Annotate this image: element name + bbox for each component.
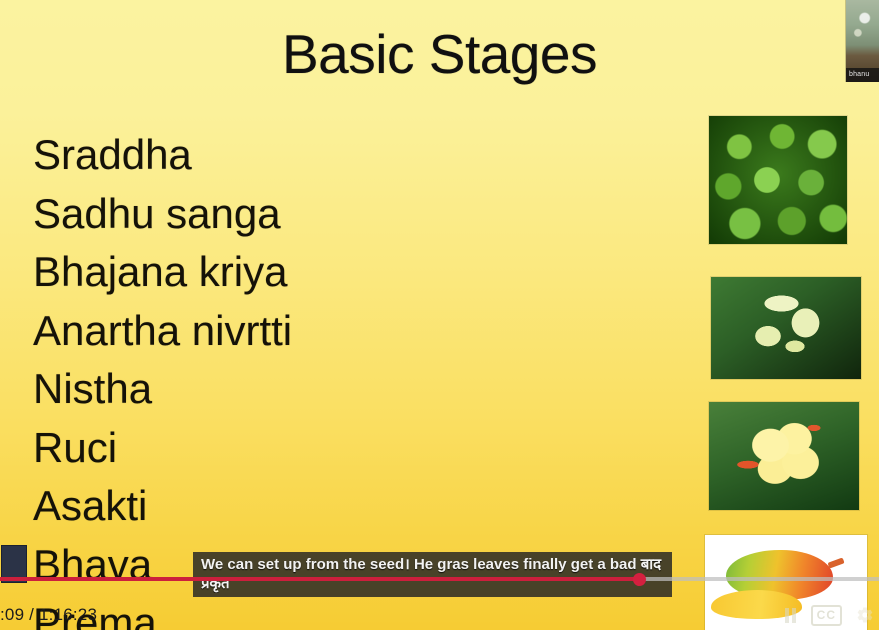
progress-played (0, 577, 641, 581)
video-player[interactable]: Basic Stages Sraddha Sadhu sanga Bhajana… (0, 0, 879, 630)
progress-scrubber-handle[interactable] (633, 573, 646, 586)
cc-button[interactable]: CC (811, 605, 842, 626)
time-display: :09 / 1:16:23 (0, 604, 97, 626)
photo-flower-buds-image (711, 277, 861, 379)
list-item: Anartha nivrtti (33, 302, 463, 361)
photo-plumeria-flower (709, 402, 859, 510)
photo-green-leaves-image (709, 116, 847, 244)
photo-flower-buds (711, 277, 861, 379)
webcam-thumbnail[interactable]: bhanu (845, 0, 879, 82)
list-item: Sadhu sanga (33, 185, 463, 244)
webcam-participant-name: bhanu (846, 68, 879, 82)
pause-icon (784, 608, 797, 623)
list-item: Ruci (33, 419, 463, 478)
mango-stem-shape (828, 557, 845, 568)
settings-button[interactable] (856, 606, 874, 624)
list-item: Nistha (33, 360, 463, 419)
page-title: Basic Stages (0, 18, 879, 90)
photo-plumeria-flower-image (709, 402, 859, 510)
list-item: Bhajana kriya (33, 243, 463, 302)
gear-icon (856, 606, 874, 624)
list-item: Prema (33, 594, 463, 630)
list-item: Sraddha (33, 126, 463, 185)
player-controls-right: CC (784, 600, 879, 630)
photo-green-leaves (709, 116, 847, 244)
progress-bar[interactable] (0, 575, 879, 583)
list-item: Asakti (33, 477, 463, 536)
slide-canvas: Basic Stages Sraddha Sadhu sanga Bhajana… (0, 0, 879, 630)
pause-button[interactable] (784, 608, 797, 623)
caption-line-1: We can set up from the seed। He gras lea… (201, 555, 666, 574)
